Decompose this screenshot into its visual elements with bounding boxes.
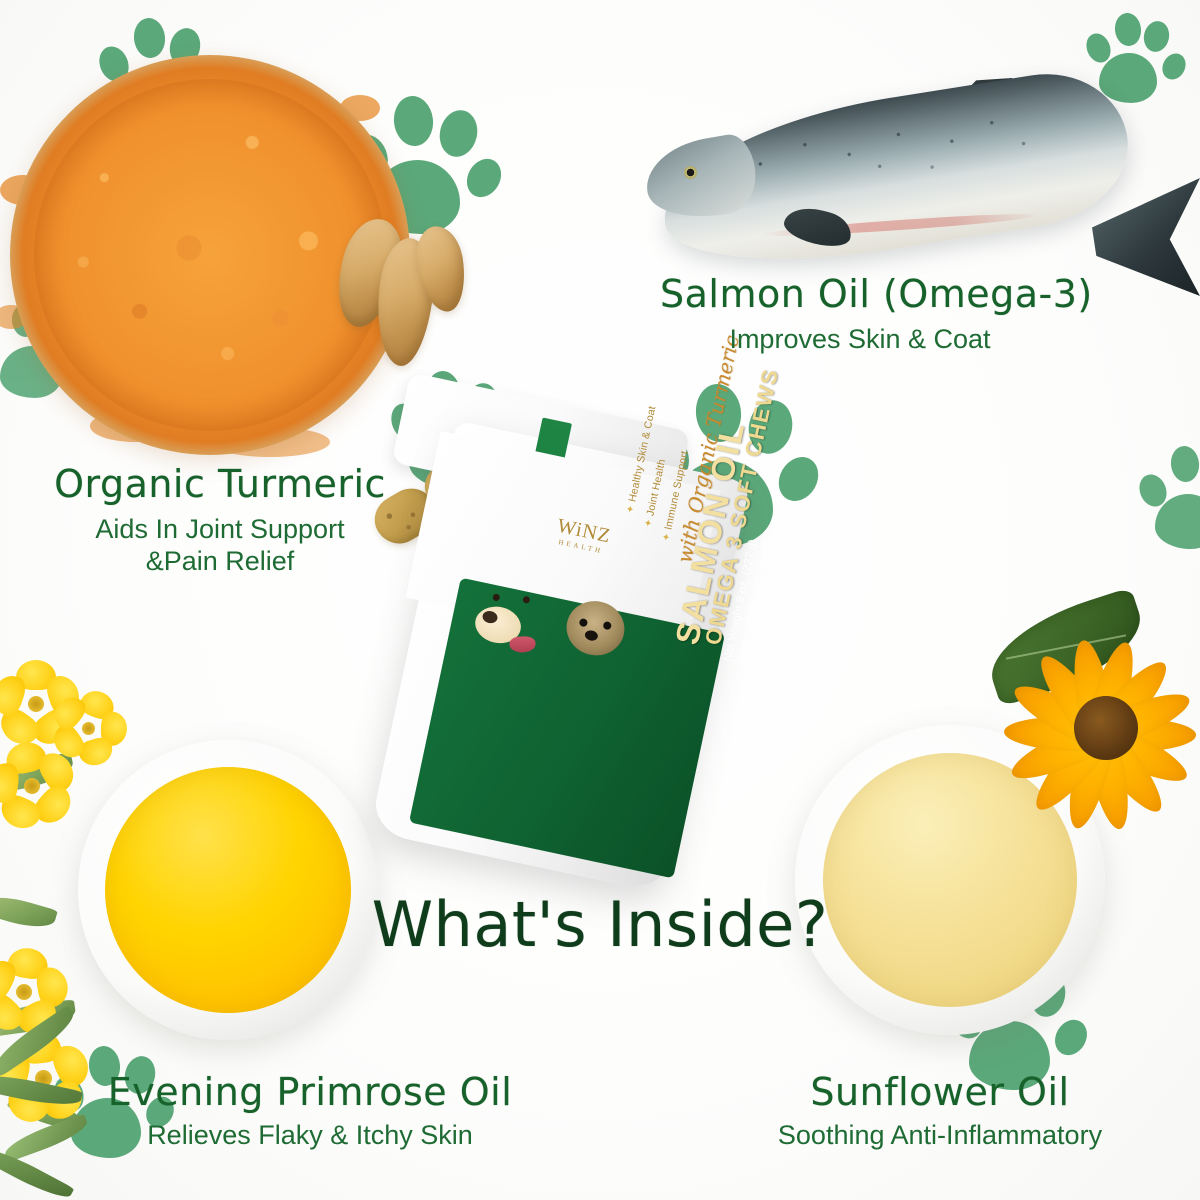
callout-turmeric-benefit-1: Aids In Joint Support	[20, 514, 420, 546]
callout-sunflower-oil-title: Sunflower Oil	[715, 1070, 1165, 1114]
infographic-canvas: WiNZ HEALTH ✦ Healthy Skin & Coat ✦ Join…	[0, 0, 1200, 1200]
callout-salmon-oil: Salmon Oil (Omega-3) Improves Skin & Coa…	[660, 272, 1060, 356]
page-title: What's Inside?	[0, 888, 1200, 961]
yorkshire-terrier-image	[535, 575, 656, 724]
callout-turmeric: Organic Turmeric Aids In Joint Support &…	[20, 462, 420, 578]
sunflower-image	[996, 600, 1200, 870]
callout-salmon-oil-benefit-1: Improves Skin & Coat	[660, 324, 1060, 356]
paw-print-icon	[1140, 440, 1200, 548]
callout-salmon-oil-title: Salmon Oil (Omega-3)	[660, 272, 1060, 316]
callout-turmeric-title: Organic Turmeric	[20, 462, 420, 506]
callout-evening-primrose-oil-benefit-1: Relieves Flaky & Itchy Skin	[80, 1120, 540, 1152]
callout-evening-primrose-oil: Evening Primrose Oil Relieves Flaky & It…	[80, 1070, 540, 1152]
callout-sunflower-oil: Sunflower Oil Soothing Anti-Inflammatory	[715, 1070, 1165, 1152]
callout-sunflower-oil-benefit-1: Soothing Anti-Inflammatory	[715, 1120, 1165, 1152]
callout-turmeric-benefit-2: &Pain Relief	[20, 546, 420, 578]
callout-evening-primrose-oil-title: Evening Primrose Oil	[80, 1070, 540, 1114]
